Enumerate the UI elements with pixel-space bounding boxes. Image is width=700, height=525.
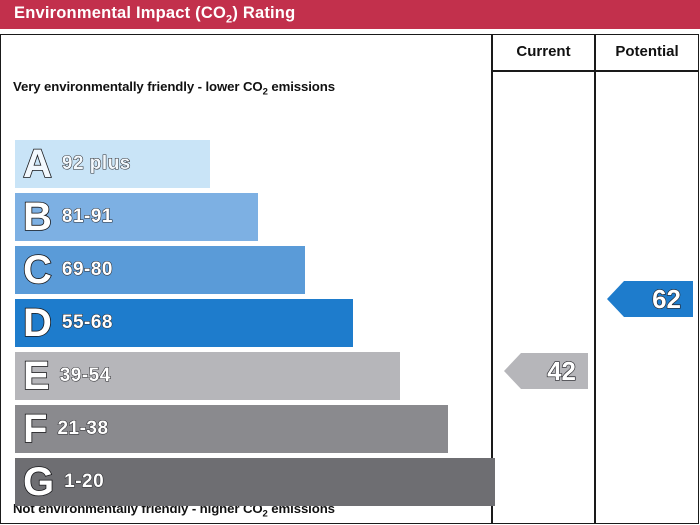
band-range-e: 39-54 (60, 365, 111, 387)
rating-band-g: G1-20 (15, 458, 495, 506)
rating-band-c: C69-80 (15, 246, 305, 294)
band-range-f: 21-38 (57, 418, 108, 440)
band-range-g: 1-20 (64, 471, 104, 493)
rating-band-a: A92 plus (15, 140, 210, 188)
header-banner: Environmental Impact (CO2) Rating (0, 0, 700, 29)
band-range-d: 55-68 (62, 312, 113, 334)
column-header-potential: Potential (596, 43, 698, 60)
page-title-prefix: Environmental Impact (CO (14, 4, 226, 22)
rating-band-f: F21-38 (15, 405, 448, 453)
current-rating-indicator: 42 (504, 353, 588, 389)
page-title-suffix: ) Rating (232, 4, 295, 22)
rating-band-d: D55-68 (15, 299, 353, 347)
band-letter-f: F (23, 409, 47, 449)
potential-rating-indicator: 62 (607, 281, 693, 317)
rating-band-b: B81-91 (15, 193, 258, 241)
rating-band-e: E39-54 (15, 352, 400, 400)
band-letter-g: G (23, 462, 54, 502)
column-header-current: Current (493, 43, 594, 60)
band-letter-c: C (23, 250, 52, 290)
column-divider-current (491, 35, 493, 523)
band-range-a: 92 plus (62, 153, 131, 175)
potential-rating-value: 62 (652, 286, 681, 312)
band-range-b: 81-91 (62, 206, 113, 228)
current-rating-value: 42 (547, 358, 576, 384)
band-letter-b: B (23, 197, 52, 237)
band-range-c: 69-80 (62, 259, 113, 281)
rating-chart: Current Potential Very environmentally f… (0, 34, 699, 524)
rating-band-list: A92 plusB81-91C69-80D55-68E39-54F21-38G1… (1, 35, 491, 525)
column-divider-potential (594, 35, 596, 523)
column-header-underline (491, 70, 698, 72)
band-letter-e: E (23, 356, 50, 396)
band-letter-d: D (23, 303, 52, 343)
page-title: Environmental Impact (CO2) Rating (14, 4, 295, 25)
band-letter-a: A (23, 144, 52, 184)
